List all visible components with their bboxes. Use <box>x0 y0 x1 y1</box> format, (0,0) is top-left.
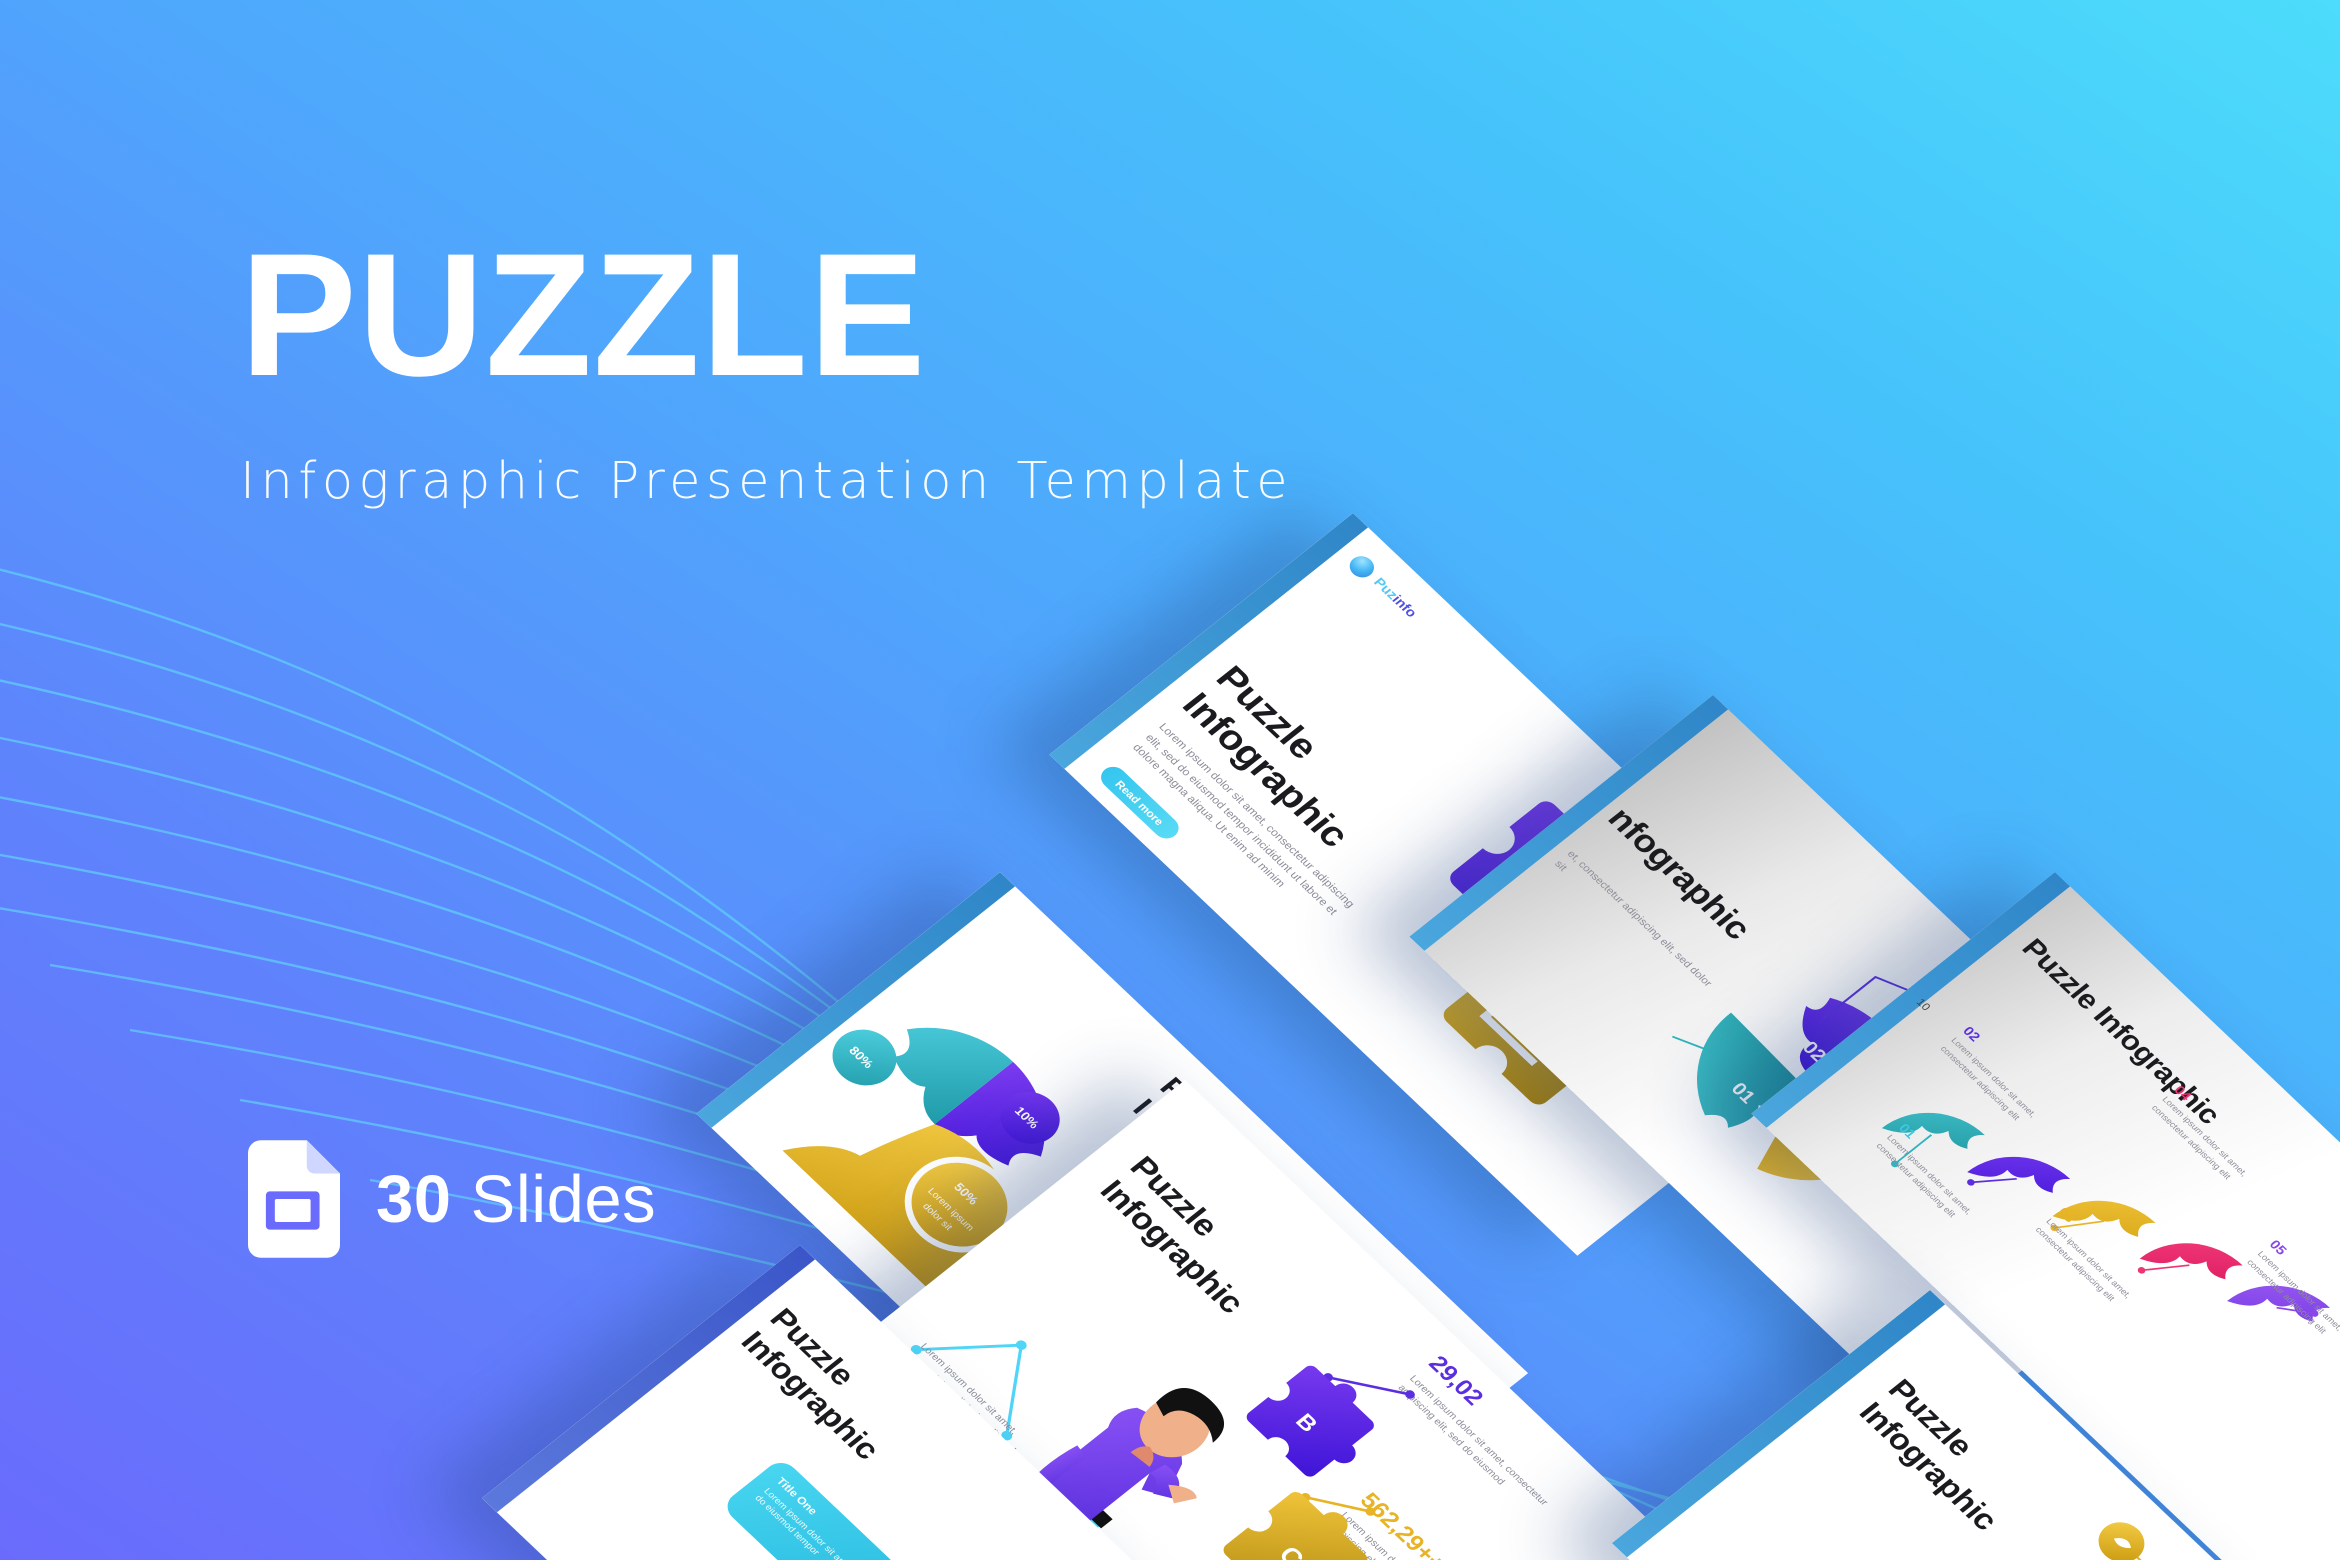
globe-icon <box>1345 552 1379 582</box>
google-slides-icon <box>248 1140 340 1258</box>
slides-count-label: 30 Slides <box>376 1161 656 1238</box>
slides-count-unit: Slides <box>471 1162 656 1237</box>
hero-block: PUZZLE Infographic Presentation Template <box>240 232 1340 511</box>
brand-name-part2: info <box>1389 593 1420 620</box>
slide-page-number: 10 <box>1914 996 1933 1013</box>
page-subtitle: Infographic Presentation Template <box>240 452 1340 511</box>
brand-logo: Puzinfo <box>1345 552 1422 623</box>
slides-count-number: 30 <box>376 1162 452 1237</box>
page-title: PUZZLE <box>240 232 1340 400</box>
slides-count-badge: 30 Slides <box>248 1140 656 1258</box>
